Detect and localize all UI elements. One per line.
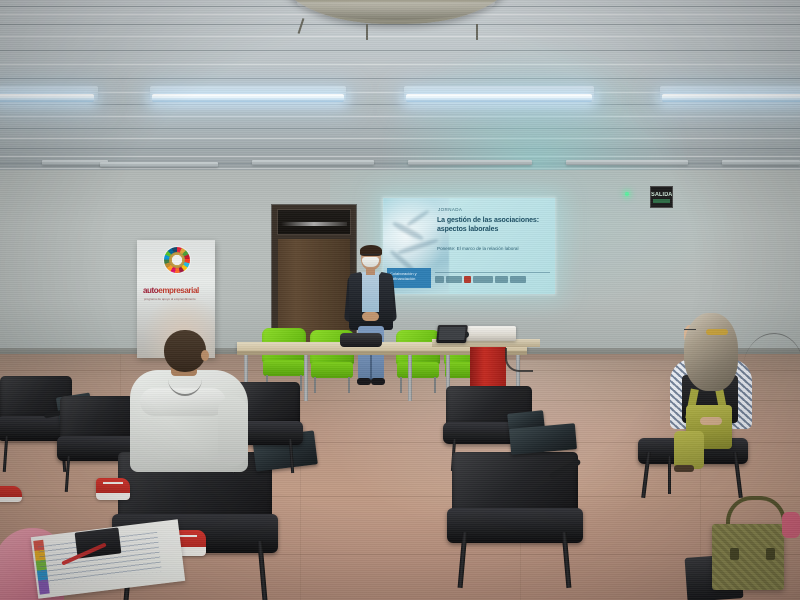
power-cable (505, 348, 533, 372)
bag-on-table (340, 333, 382, 347)
ac-bracket (366, 24, 368, 40)
black-chair-with-tablet[interactable] (452, 452, 578, 586)
projection-screen: JORNADA La gestión de las asociaciones: … (383, 198, 555, 294)
unlit-ceiling-fixture (566, 160, 688, 165)
chair-seat (397, 362, 439, 378)
unlit-ceiling-fixture (100, 162, 218, 167)
attendee-grey-tshirt (126, 330, 256, 510)
ceiling-tube-light (406, 94, 592, 102)
handbag-clip-left-icon (730, 548, 739, 560)
speaker-shirt (362, 272, 379, 312)
green-led-indicator-icon (625, 192, 629, 196)
unlit-ceiling-fixture (252, 160, 374, 165)
pink-item (782, 512, 800, 538)
exit-sign-label: SALIDA (651, 192, 672, 198)
table-leg (408, 355, 412, 401)
ceiling-tube-light (662, 94, 800, 102)
exit-sign-icon: SALIDA (650, 186, 673, 208)
laptop-device[interactable] (436, 325, 468, 343)
slide-logo-strip (435, 276, 553, 283)
attendee-hair (684, 313, 738, 391)
chair-back (60, 396, 134, 440)
banner-wordmark-part1: auto (143, 286, 158, 295)
ceiling-tube-light (0, 94, 94, 102)
attendee-arm (218, 396, 248, 466)
slide-divider (435, 272, 550, 273)
glasses-icon (684, 329, 696, 333)
table-leg (304, 355, 308, 401)
laptop-screen (438, 327, 465, 340)
speaker-shoe-right (371, 378, 385, 385)
slide-subtitle: Ponente: El marco de la relación laboral (437, 246, 549, 252)
attendee-sandal (674, 465, 694, 472)
green-chair[interactable] (262, 328, 306, 384)
banner-tagline: programa de apoyo al emprendimiento (144, 297, 206, 301)
speaker-person (340, 246, 400, 416)
exit-sign-pictogram (653, 199, 670, 203)
shoe-sole (0, 497, 22, 502)
chair-seat (263, 360, 305, 376)
handbag-clip-right-icon (766, 548, 775, 560)
attendee-trousers (674, 431, 704, 469)
attendee-ear (201, 350, 209, 361)
attendee-head (164, 330, 206, 372)
training-room-photo: SALIDA JORNADA La gestión de las asociac… (0, 0, 800, 600)
slide-title: La gestión de las asociaciones: aspectos… (437, 216, 552, 234)
ceiling-tube-light (152, 94, 344, 102)
shoe-lace (103, 482, 122, 484)
unlit-ceiling-fixture (722, 160, 800, 165)
projector-ceiling-glow (380, 40, 690, 172)
attendee-hands (700, 417, 722, 425)
speaker-shoe-left (357, 378, 371, 385)
red-sneaker (96, 478, 130, 500)
shoe-sole (96, 493, 130, 500)
unlit-ceiling-fixture (408, 160, 532, 165)
chair-back (452, 452, 578, 514)
sdg-wheel-hub-icon (169, 252, 185, 268)
red-sneaker (0, 486, 22, 502)
hair-clip-icon (706, 329, 728, 335)
door-transom-window (277, 209, 351, 235)
banner-wordmark-part2: empresarial (158, 286, 199, 295)
banner-wordmark: autoempresarial (143, 286, 209, 295)
slide-kicker: JORNADA (438, 207, 462, 213)
attendee-woman (660, 313, 760, 483)
ac-bracket (476, 24, 478, 40)
speaker-hands (362, 312, 379, 321)
unlit-ceiling-fixture (42, 160, 108, 165)
